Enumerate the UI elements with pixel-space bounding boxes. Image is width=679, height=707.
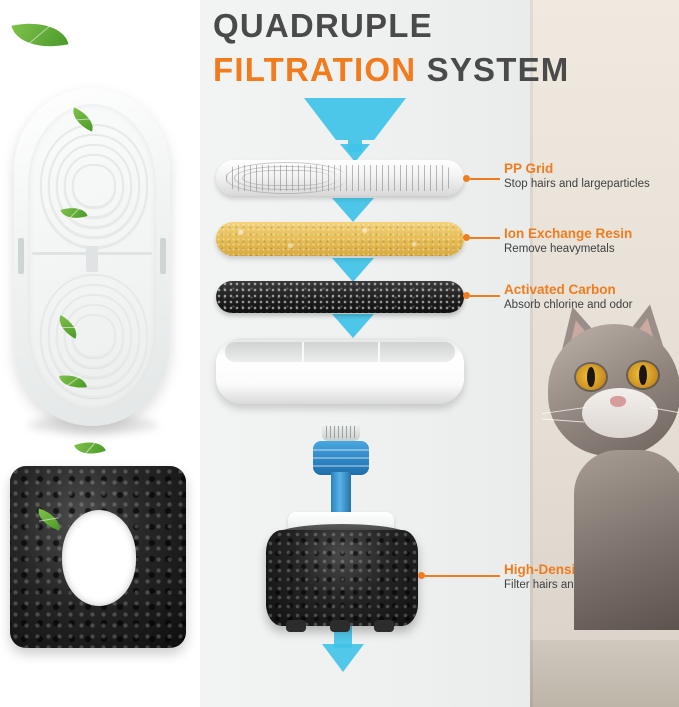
high-density-sponge-texture — [266, 530, 418, 626]
flow-arrow-icon — [318, 314, 388, 340]
callout-dot-pp-grid — [463, 175, 470, 182]
pump-cap — [322, 423, 360, 441]
cat-photo — [538, 300, 679, 620]
callout-subtitle: Remove heavymetals — [504, 242, 679, 257]
black-sponge-photo — [10, 466, 186, 648]
cat-body — [574, 450, 679, 630]
callout-ion-exchange-resin: Ion Exchange Resin Remove heavymetals — [504, 225, 679, 257]
callout-leader-pp-grid — [470, 178, 500, 180]
title-highlight-word: FILTRATION — [213, 51, 416, 88]
callout-leader-high-density-sponge — [425, 575, 500, 577]
title-line-2: FILTRATION SYSTEM — [213, 50, 643, 90]
flow-arrow-icon — [300, 96, 410, 162]
callout-dot-activated-carbon — [463, 292, 470, 299]
title-block: QUADRUPLE FILTRATION SYSTEM — [213, 6, 643, 90]
pump-foot — [374, 620, 394, 632]
pump-foot — [330, 620, 350, 632]
callout-title: Ion Exchange Resin — [504, 225, 679, 242]
callout-leader-activated-carbon — [470, 295, 500, 297]
layer-pp-grid — [216, 160, 464, 196]
callout-dot-ion-exchange-resin — [463, 234, 470, 241]
sponge-center-hole — [62, 510, 136, 606]
callout-title: PP Grid — [504, 160, 679, 177]
cat-nose — [610, 396, 626, 407]
pump-foot — [286, 620, 306, 632]
tray-recess — [225, 342, 455, 362]
wall-edge — [530, 0, 533, 707]
title-line-1: QUADRUPLE — [213, 6, 643, 46]
callout-dot-high-density-sponge — [418, 572, 425, 579]
background-floor — [530, 640, 679, 707]
layer-filter-tray — [216, 338, 464, 404]
infographic-poster: QUADRUPLE FILTRATION SYSTEM — [0, 0, 679, 707]
layer-high-density-sponge — [266, 530, 418, 626]
resin-texture — [216, 222, 464, 256]
callout-title: Activated Carbon — [504, 281, 679, 298]
callout-subtitle: Stop hairs and largeparticles — [504, 177, 679, 192]
callout-pp-grid: PP Grid Stop hairs and largeparticles — [504, 160, 679, 192]
flow-arrow-icon — [318, 198, 388, 224]
callout-leader-ion-exchange-resin — [470, 237, 500, 239]
grid-filter-body — [28, 104, 156, 410]
grid-filter-photo — [14, 88, 170, 426]
pump-collar — [313, 441, 369, 475]
layer-activated-carbon — [216, 281, 464, 313]
layer-ion-exchange-resin — [216, 222, 464, 256]
carbon-texture — [216, 281, 464, 313]
cat-eye-left — [576, 364, 606, 390]
title-rest-word: SYSTEM — [427, 51, 570, 88]
cat-eye-right — [628, 362, 658, 388]
